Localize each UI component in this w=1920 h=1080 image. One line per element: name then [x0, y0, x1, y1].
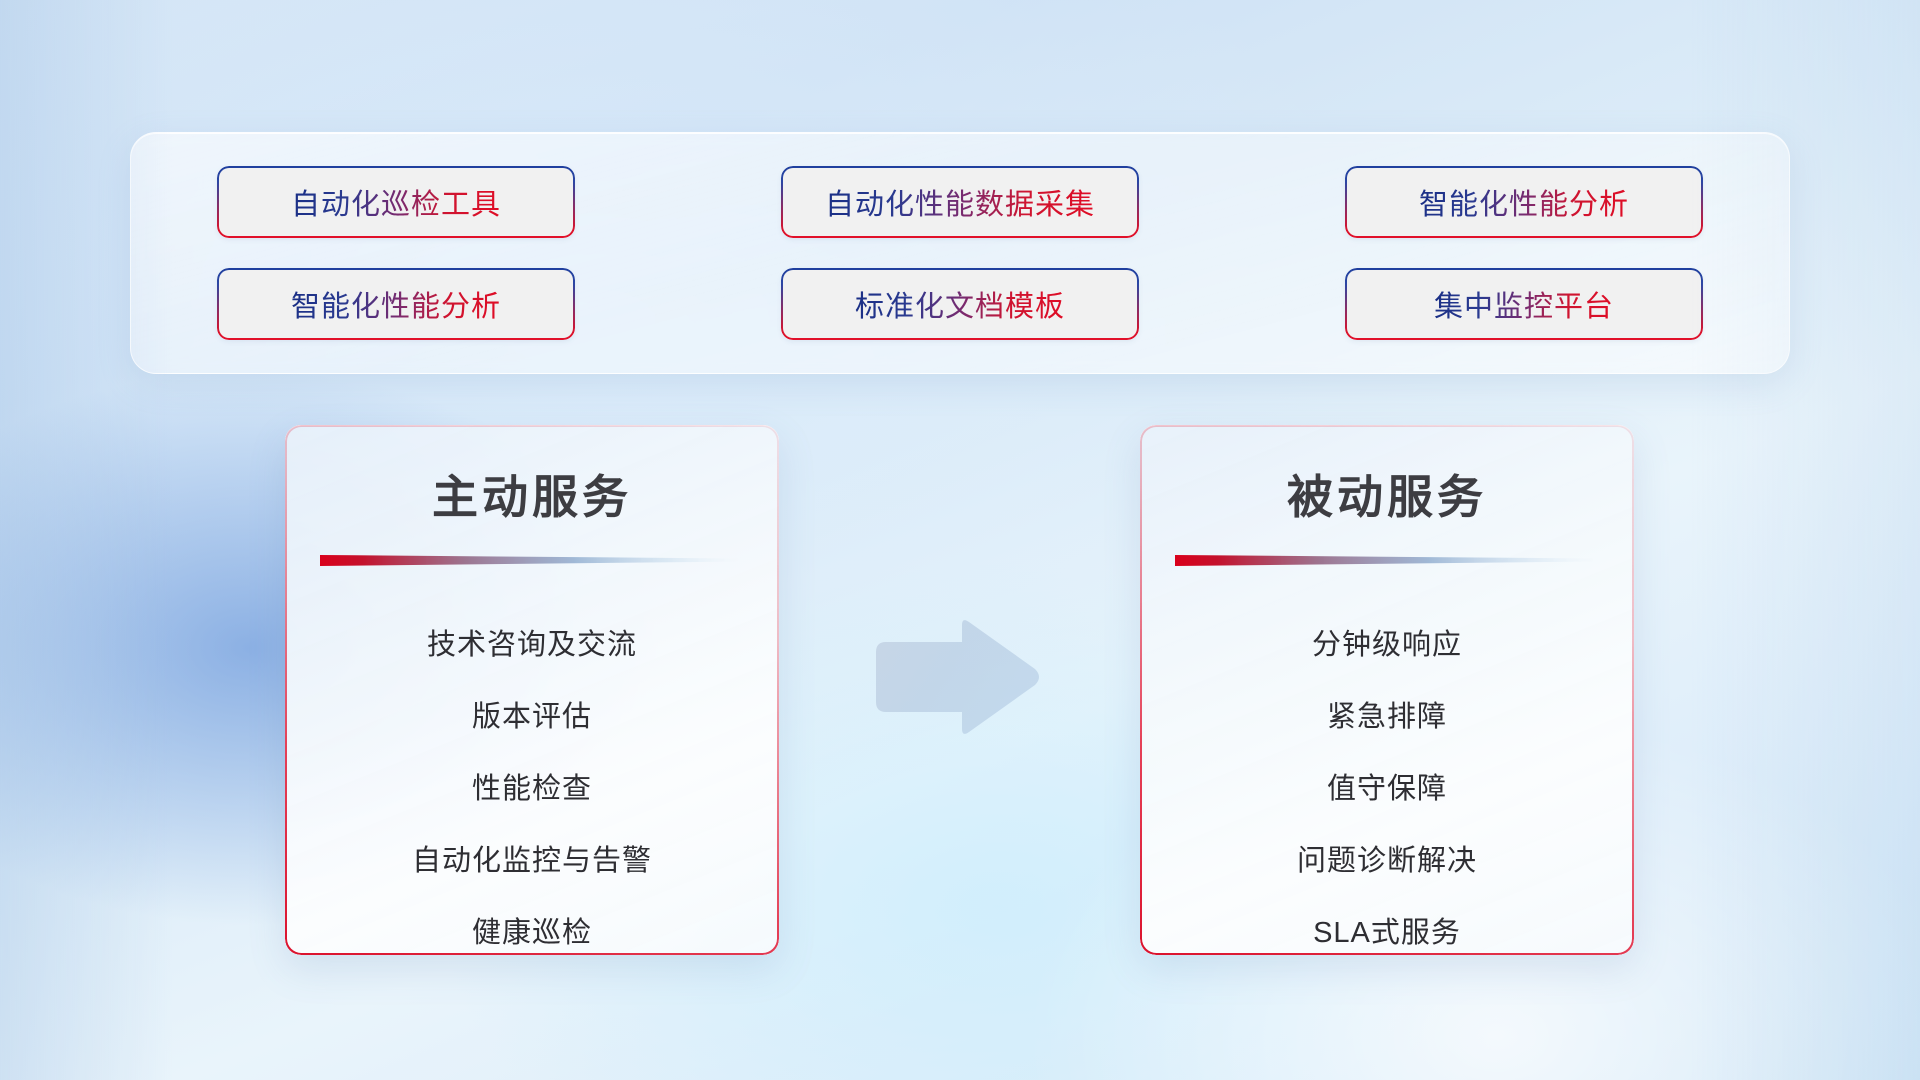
right-arrow-icon [872, 616, 1042, 738]
capability-pill-label: 智能化性能分析 [1419, 181, 1629, 223]
capability-pill[interactable]: 自动化巡检工具 [217, 166, 575, 238]
card-title: 被动服务 [1140, 461, 1634, 527]
service-card-passive[interactable]: 被动服务 分钟级响应 紧急排障 值守保障 [1140, 425, 1634, 955]
capability-pill-label: 智能化性能分析 [291, 283, 501, 325]
capability-row-2: 智能化性能分析 标准化文档模板 集中监控平台 [217, 268, 1703, 340]
capability-pill-label: 集中监控平台 [1434, 283, 1614, 325]
capability-pill[interactable]: 集中监控平台 [1345, 268, 1703, 340]
service-item-list: 分钟级响应 紧急排障 值守保障 问题诊断解决 SLA式服务 [1140, 606, 1634, 955]
service-card-active[interactable]: 主动服务 技术咨询及交流 版本评估 性能检查 [285, 425, 779, 955]
service-item[interactable]: 健康巡检 [285, 894, 779, 955]
service-item[interactable]: 自动化监控与告警 [285, 822, 779, 894]
service-item-list: 技术咨询及交流 版本评估 性能检查 自动化监控与告警 健康巡检 [285, 606, 779, 955]
slide-canvas: 自动化巡检工具 自动化性能数据采集 智能化性能分析 智能化性能分析 标准化文档模… [0, 0, 1920, 1080]
service-item[interactable]: 紧急排障 [1140, 678, 1634, 750]
capability-row-1: 自动化巡检工具 自动化性能数据采集 智能化性能分析 [217, 166, 1703, 238]
capability-pill-label: 自动化性能数据采集 [825, 181, 1095, 223]
service-item[interactable]: 版本评估 [285, 678, 779, 750]
service-item[interactable]: 值守保障 [1140, 750, 1634, 822]
service-item[interactable]: 问题诊断解决 [1140, 822, 1634, 894]
capability-pill-label: 标准化文档模板 [855, 283, 1065, 325]
capabilities-panel: 自动化巡检工具 自动化性能数据采集 智能化性能分析 智能化性能分析 标准化文档模… [130, 132, 1790, 374]
capability-pill-label: 自动化巡检工具 [291, 181, 501, 223]
service-item[interactable]: 分钟级响应 [1140, 606, 1634, 678]
service-item[interactable]: 性能检查 [285, 750, 779, 822]
service-item[interactable]: 技术咨询及交流 [285, 606, 779, 678]
capability-pill[interactable]: 智能化性能分析 [217, 268, 575, 340]
card-title: 主动服务 [285, 461, 779, 527]
capability-pill[interactable]: 标准化文档模板 [781, 268, 1139, 340]
capability-pill[interactable]: 智能化性能分析 [1345, 166, 1703, 238]
title-accent-bar [1175, 553, 1599, 566]
capability-pill[interactable]: 自动化性能数据采集 [781, 166, 1139, 238]
service-item[interactable]: SLA式服务 [1140, 894, 1634, 955]
title-accent-bar [320, 553, 744, 566]
